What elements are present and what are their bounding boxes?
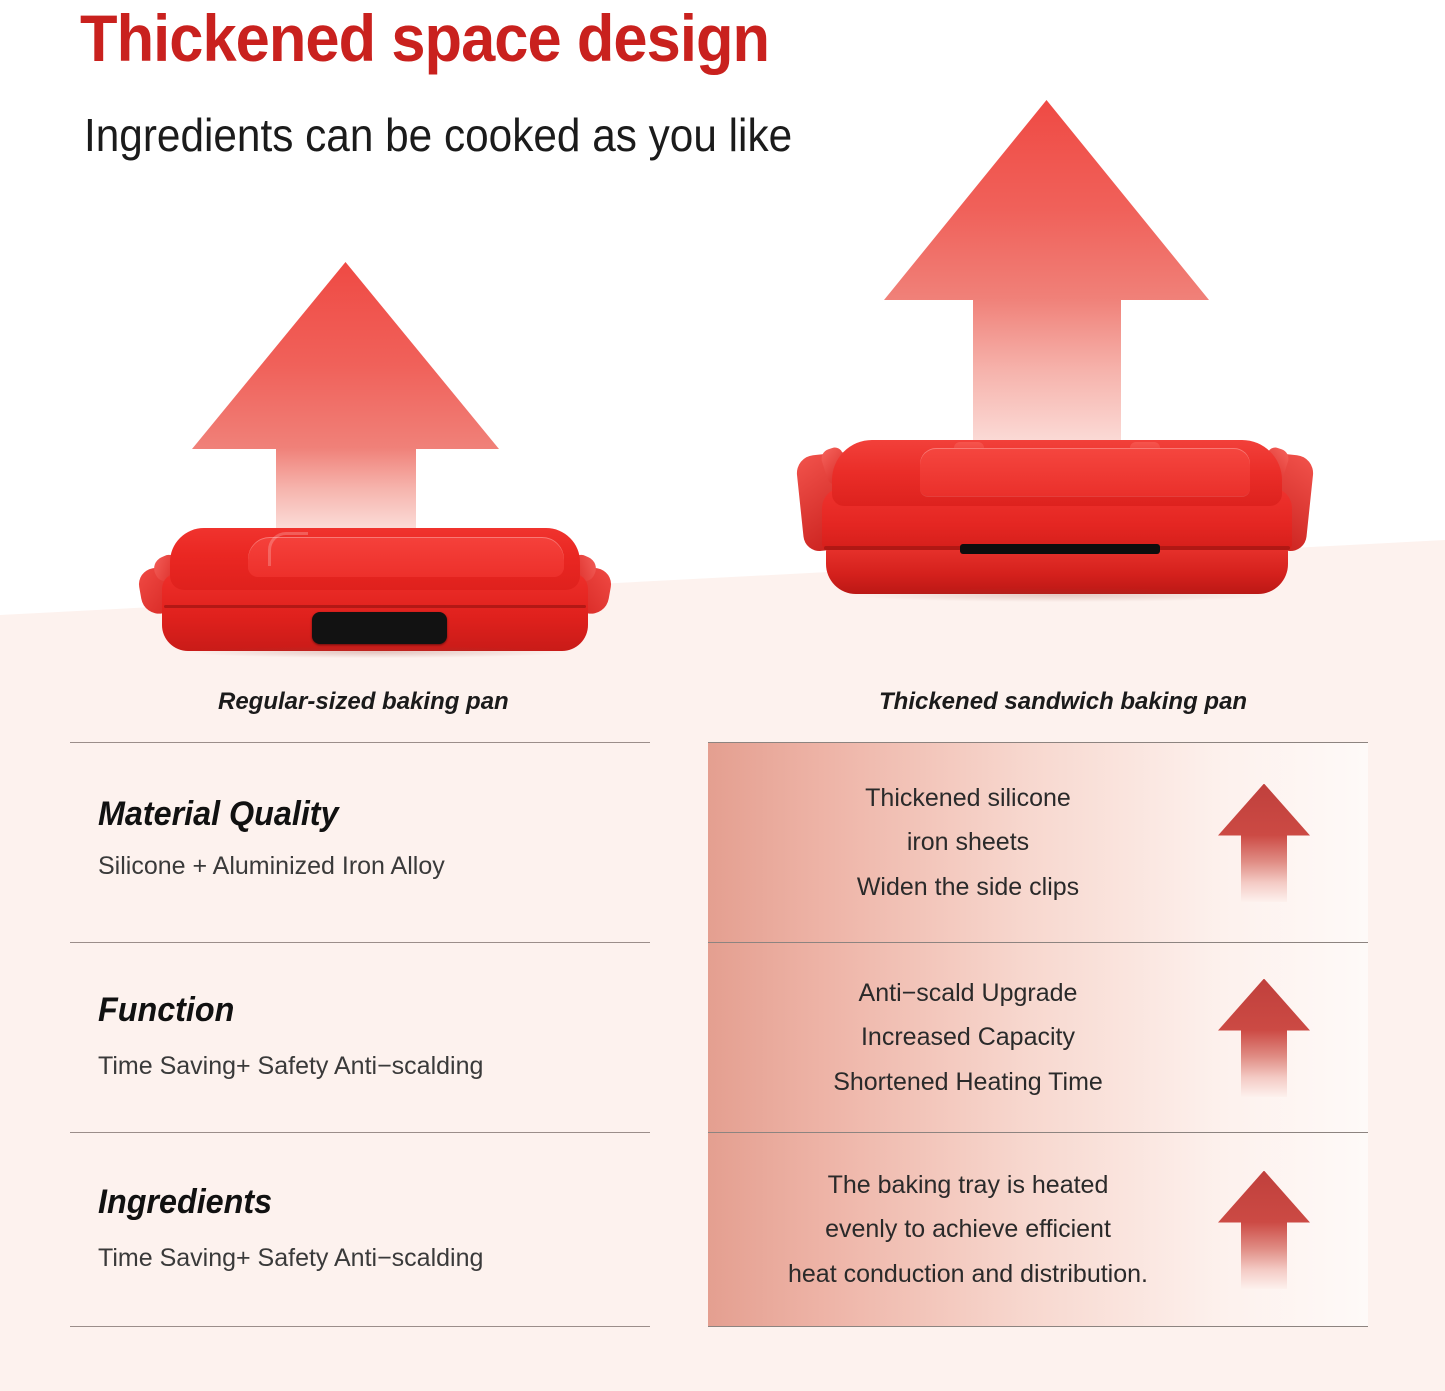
feature-row-function: Anti−scald Upgrade Increased Capacity Sh…	[708, 942, 1368, 1132]
spec-table: Material Quality Silicone + Aluminized I…	[70, 742, 650, 1327]
page-subtitle: Ingredients can be cooked as you like	[84, 108, 792, 162]
caption-thickened-pan: Thickened sandwich baking pan	[879, 688, 1247, 716]
lid-groove	[268, 532, 308, 566]
arrow-head	[1218, 979, 1310, 1031]
feature-line: Thickened silicone	[865, 776, 1071, 821]
feature-line: heat conduction and distribution.	[788, 1252, 1148, 1297]
arrow-shaft	[1241, 835, 1287, 902]
up-arrow-icon-small	[1218, 1171, 1310, 1289]
arrow-shaft	[1241, 1222, 1287, 1289]
spec-title: Ingredients	[98, 1183, 622, 1222]
up-arrow-icon-small	[1218, 979, 1310, 1097]
spec-row-ingredients: Ingredients Time Saving+ Safety Anti−sca…	[70, 1132, 650, 1327]
up-arrow-icon-regular	[192, 262, 499, 562]
feature-text: The baking tray is heated evenly to achi…	[708, 1133, 1228, 1326]
product-image-thickened-pan	[800, 440, 1310, 600]
arrow-head	[1218, 1171, 1310, 1223]
spec-row-material: Material Quality Silicone + Aluminized I…	[70, 742, 650, 942]
pan-shadow	[186, 646, 566, 658]
feature-panel: Thickened silicone iron sheets Widen the…	[708, 742, 1368, 1327]
up-arrow-icon-small	[1218, 784, 1310, 902]
spec-title: Function	[98, 991, 622, 1030]
feature-text: Thickened silicone iron sheets Widen the…	[708, 743, 1228, 942]
feature-line: Widen the side clips	[857, 865, 1079, 910]
spec-desc: Time Saving+ Safety Anti−scalding	[98, 1052, 650, 1081]
feature-line: iron sheets	[907, 820, 1029, 865]
spec-title: Material Quality	[98, 795, 622, 834]
feature-line: evenly to achieve efficient	[825, 1207, 1111, 1252]
feature-row-material: Thickened silicone iron sheets Widen the…	[708, 742, 1368, 942]
arrow-head	[1218, 784, 1310, 836]
pan-seam	[164, 605, 586, 608]
spec-desc: Silicone + Aluminized Iron Alloy	[98, 852, 650, 881]
lid-inset	[920, 448, 1250, 496]
arrow-head	[884, 100, 1209, 300]
pan-front-slot	[960, 544, 1160, 554]
feature-line: Increased Capacity	[861, 1015, 1075, 1060]
pan-shadow	[850, 588, 1270, 602]
pan-lid	[170, 528, 580, 590]
feature-line: Anti−scald Upgrade	[859, 971, 1078, 1016]
product-image-regular-pan	[140, 528, 610, 656]
feature-text: Anti−scald Upgrade Increased Capacity Sh…	[708, 943, 1228, 1132]
arrow-shaft	[1241, 1030, 1287, 1097]
pan-front-slot	[312, 612, 447, 644]
feature-row-heat: The baking tray is heated evenly to achi…	[708, 1132, 1368, 1327]
feature-line: The baking tray is heated	[828, 1163, 1109, 1208]
spec-row-function: Function Time Saving+ Safety Anti−scaldi…	[70, 942, 650, 1132]
page-title: Thickened space design	[80, 0, 769, 76]
feature-line: Shortened Heating Time	[833, 1060, 1103, 1105]
arrow-head	[192, 262, 499, 449]
caption-regular-pan: Regular-sized baking pan	[218, 688, 509, 716]
spec-desc: Time Saving+ Safety Anti−scalding	[98, 1244, 650, 1273]
pan-lid	[832, 440, 1282, 506]
